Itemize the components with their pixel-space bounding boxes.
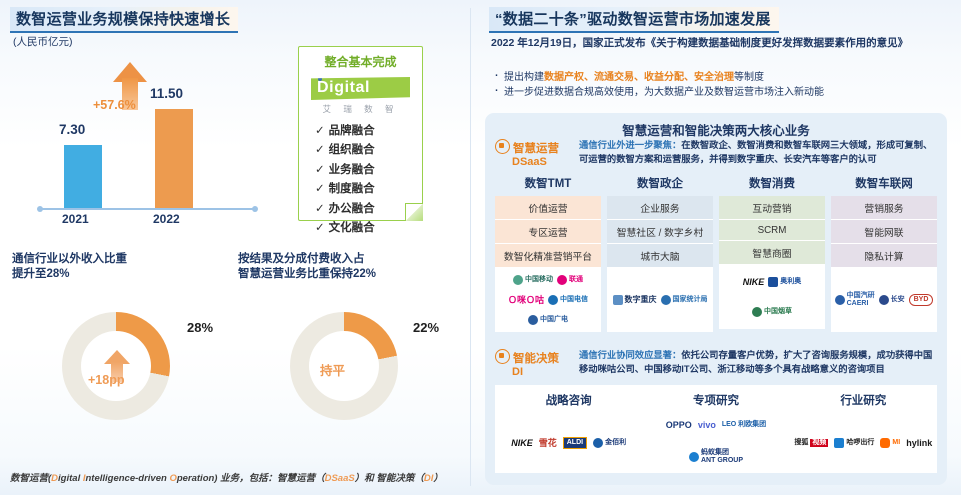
- bar-2022: [155, 109, 193, 208]
- bar-value-2022: 11.50: [150, 86, 183, 101]
- tag-item: 专区运营: [495, 220, 601, 244]
- di-logo-group-strategy: NIKE 雪花 ALDI 金佰利: [495, 412, 642, 473]
- di-logo-group-industry-research: 搜狐视频 哈啰出行 MI hylink: [790, 412, 937, 473]
- donut-right-delta: 持平: [320, 360, 345, 379]
- logo-china-unicom: 联通: [557, 275, 583, 285]
- logo-china-tobacco: 中国烟草: [752, 307, 792, 317]
- tag-item: 隐私计算: [831, 244, 937, 268]
- logo-changan: 长安: [879, 295, 905, 305]
- check-icon: ✓: [315, 203, 325, 215]
- bar-2021: [64, 145, 102, 208]
- column-header-government: 数智政企: [607, 175, 713, 191]
- core-business-card: 智慧运营和智能决策两大核心业务 智慧运营 DSaaS 通信行业外进一步聚焦：在数…: [485, 113, 947, 485]
- tag-item: 智慧社区 / 数字乡村: [607, 220, 713, 244]
- tag-list-consumer: 互动营销 SCRM 智慧商圈: [719, 196, 825, 265]
- di-column-industry-research: 行业研究 搜狐视频 哈啰出行 MI hylink: [790, 385, 937, 473]
- logo-china-broadnet: 中国广电: [528, 315, 568, 325]
- column-consumer: 数智消费 互动营销 SCRM 智慧商圈 NIKE 奥利奥 中国烟草: [719, 175, 825, 332]
- left-panel: 数智运营业务规模保持快速增长 (人民币亿元) +57.6% 7.30 11.50…: [0, 0, 470, 495]
- column-auto-iov: 数智车联网 营销服务 智能网联 隐私计算 中国汽研CAERI 长安 BYD: [831, 175, 937, 332]
- logo-xiaomi: MI: [880, 438, 900, 448]
- column-tmt: 数智TMT 价值运营 专区运营 数智化精准营销平台 中国移动 联通 Ｏ咪Ｏ咕 中…: [495, 175, 601, 332]
- logo-group-consumer: NIKE 奥利奥 中国烟草: [719, 265, 825, 329]
- check-icon: ✓: [315, 144, 325, 156]
- policy-bullets: 提出构建数据产权、流通交易、收益分配、安全治理等制度 进一步促进数据合规高效使用…: [491, 70, 943, 100]
- logo-china-mobile: 中国移动: [513, 275, 553, 285]
- di-column-header-strategy: 战略咨询: [495, 392, 642, 408]
- logo-national-bureau-statistics: 国家统计局: [661, 295, 708, 305]
- tag-item: 企业服务: [607, 196, 713, 220]
- logo-group-auto-iov: 中国汽研CAERI 长安 BYD: [831, 268, 937, 332]
- logo-leo-group: LEO 利欧集团: [722, 421, 766, 429]
- policy-bullet-1: 提出构建数据产权、流通交易、收益分配、安全治理等制度: [491, 70, 943, 85]
- logo-aldi: ALDI: [563, 437, 587, 449]
- tag-item: 价值运营: [495, 196, 601, 220]
- right-section-header: “数据二十条”驱动数智运营市场加速发展: [489, 7, 779, 33]
- logo-caeri: 中国汽研CAERI: [835, 292, 875, 308]
- logo-oppo: OPPO: [666, 421, 692, 429]
- tag-item: 智慧商圈: [719, 241, 825, 265]
- logo-oreo: 奥利奥: [768, 277, 801, 287]
- di-logo-group-special-research: OPPO vivo LEO 利欧集团 蚂蚁集团ANT GROUP: [642, 412, 789, 473]
- left-section-header: 数智运营业务规模保持快速增长: [10, 7, 238, 33]
- di-column-header-industry-research: 行业研究: [790, 392, 937, 408]
- checklist-item: ✓文化融合: [315, 219, 422, 235]
- left-title: 数智运营业务规模保持快速增长: [10, 7, 238, 33]
- donut-right-caption: 按结果及分成付费收入占 智慧运营业务比重保持22%: [238, 252, 376, 282]
- logo-migu: Ｏ咪Ｏ咕: [508, 296, 544, 304]
- tag-list-auto-iov: 营销服务 智能网联 隐私计算: [831, 196, 937, 268]
- logo-byd: BYD: [909, 294, 934, 306]
- di-column-special-research: 专项研究 OPPO vivo LEO 利欧集团 蚂蚁集团ANT GROUP: [642, 385, 789, 473]
- right-title: “数据二十条”驱动数智运营市场加速发展: [489, 7, 779, 33]
- column-government: 数智政企 企业服务 智慧社区 / 数字乡村 城市大脑 数字重庆 国家统计局: [607, 175, 713, 332]
- checklist-item: ✓办公融合: [315, 200, 422, 216]
- check-icon: ✓: [315, 164, 325, 176]
- tag-item: 数智化精准营销平台: [495, 244, 601, 268]
- checklist-item: ✓业务融合: [315, 161, 422, 177]
- logo-sohu-video: 搜狐视频: [794, 439, 828, 447]
- idigital-logo-sub: 艾 瑞 数 智: [305, 103, 416, 115]
- dsaas-badge: 智慧运营 DSaaS: [495, 139, 559, 168]
- check-icon: ✓: [315, 125, 325, 137]
- chart-unit-label: (人民币亿元): [13, 34, 73, 49]
- di-column-header-special-research: 专项研究: [642, 392, 789, 408]
- bar-category-2021: 2021: [62, 212, 89, 226]
- logo-hylink: hylink: [906, 439, 932, 447]
- donut-right-percent: 22%: [413, 320, 439, 335]
- column-header-auto-iov: 数智车联网: [831, 175, 937, 191]
- check-icon: ✓: [315, 183, 325, 195]
- checklist-item: ✓制度融合: [315, 180, 422, 196]
- gear-icon: [495, 349, 510, 364]
- tag-list-tmt: 价值运营 专区运营 数智化精准营销平台: [495, 196, 601, 268]
- integration-note-card: 整合基本完成 Digital 艾 瑞 数 智 ✓品牌融合 ✓组织融合 ✓业务融合…: [298, 46, 423, 221]
- donut-left-delta: +18pp: [88, 373, 124, 387]
- note-title: 整合基本完成: [299, 53, 422, 70]
- logo-china-telecom: 中国电信: [548, 295, 588, 305]
- logo-group-tmt: 中国移动 联通 Ｏ咪Ｏ咕 中国电信 中国广电: [495, 268, 601, 332]
- di-client-strip: 战略咨询 NIKE 雪花 ALDI 金佰利 专项研究 OPPO vivo: [495, 385, 937, 473]
- logo-ant-group: 蚂蚁集团ANT GROUP: [689, 449, 743, 465]
- dsaas-columns: 数智TMT 价值运营 专区运营 数智化精准营销平台 中国移动 联通 Ｏ咪Ｏ咕 中…: [495, 175, 937, 332]
- logo-kimberly-clark: 金佰利: [593, 438, 626, 448]
- gear-icon: [495, 139, 510, 154]
- logo-nike: NIKE: [743, 278, 765, 286]
- logo-nike: NIKE: [511, 439, 533, 447]
- di-abbr: DI: [512, 366, 559, 378]
- tag-item: 互动营销: [719, 196, 825, 220]
- logo-snow-beer: 雪花: [539, 439, 557, 447]
- policy-lead-text: 2022 年12月19日，国家正式发布《关于构建数据基础制度更好发挥数据要素作用…: [491, 36, 943, 51]
- di-description: 通信行业协同效应显著：依托公司存量客户优势，扩大了咨询服务规模，成功获得中国移动…: [579, 349, 941, 376]
- column-header-consumer: 数智消费: [719, 175, 825, 191]
- bar-chart: +57.6% 7.30 11.50 2021 2022: [22, 56, 272, 226]
- bar-category-2022: 2022: [153, 212, 180, 226]
- check-icon: ✓: [315, 222, 325, 234]
- bar-value-2021: 7.30: [59, 122, 85, 137]
- checklist-item: ✓品牌融合: [315, 122, 422, 138]
- di-column-strategy: 战略咨询 NIKE 雪花 ALDI 金佰利: [495, 385, 642, 473]
- tag-item: 营销服务: [831, 196, 937, 220]
- dsaas-abbr: DSaaS: [512, 156, 559, 168]
- dsaas-description: 通信行业外进一步聚焦：在数智政企、数智消费和数智车联网三大领域，形成可复制、可运…: [579, 139, 941, 166]
- donut-left-percent: 28%: [187, 320, 213, 335]
- logo-group-government: 数字重庆 国家统计局: [607, 268, 713, 332]
- chart-axis: [40, 208, 255, 210]
- slide-root: 数智运营业务规模保持快速增长 (人民币亿元) +57.6% 7.30 11.50…: [0, 0, 961, 495]
- logo-digital-chongqing: 数字重庆: [613, 295, 657, 305]
- column-header-tmt: 数智TMT: [495, 175, 601, 191]
- tag-item: SCRM: [719, 220, 825, 241]
- tag-list-government: 企业服务 智慧社区 / 数字乡村 城市大脑: [607, 196, 713, 268]
- tag-item: 智能网联: [831, 220, 937, 244]
- right-panel: “数据二十条”驱动数智运营市场加速发展 2022 年12月19日，国家正式发布《…: [471, 0, 961, 495]
- logo-hellobike: 哈啰出行: [834, 438, 874, 448]
- growth-rate-label: +57.6%: [93, 98, 136, 112]
- tag-item: 城市大脑: [607, 244, 713, 268]
- policy-bullet-2: 进一步促进数据合规高效使用，为大数据产业及数智运营市场注入新动能: [491, 85, 943, 100]
- core-business-title: 智慧运营和智能决策两大核心业务: [485, 120, 947, 139]
- idigital-logo: Digital 艾 瑞 数 智: [305, 75, 416, 118]
- di-badge: 智能决策 DI: [495, 349, 559, 378]
- footnote: 数智运营(Digital Intelligence-driven Operati…: [10, 470, 443, 484]
- logo-vivo: vivo: [698, 421, 716, 429]
- idigital-logo-text: Digital: [317, 79, 370, 97]
- checklist-item: ✓组织融合: [315, 141, 422, 157]
- donut-left-caption: 通信行业以外收入比重 提升至28%: [12, 252, 127, 282]
